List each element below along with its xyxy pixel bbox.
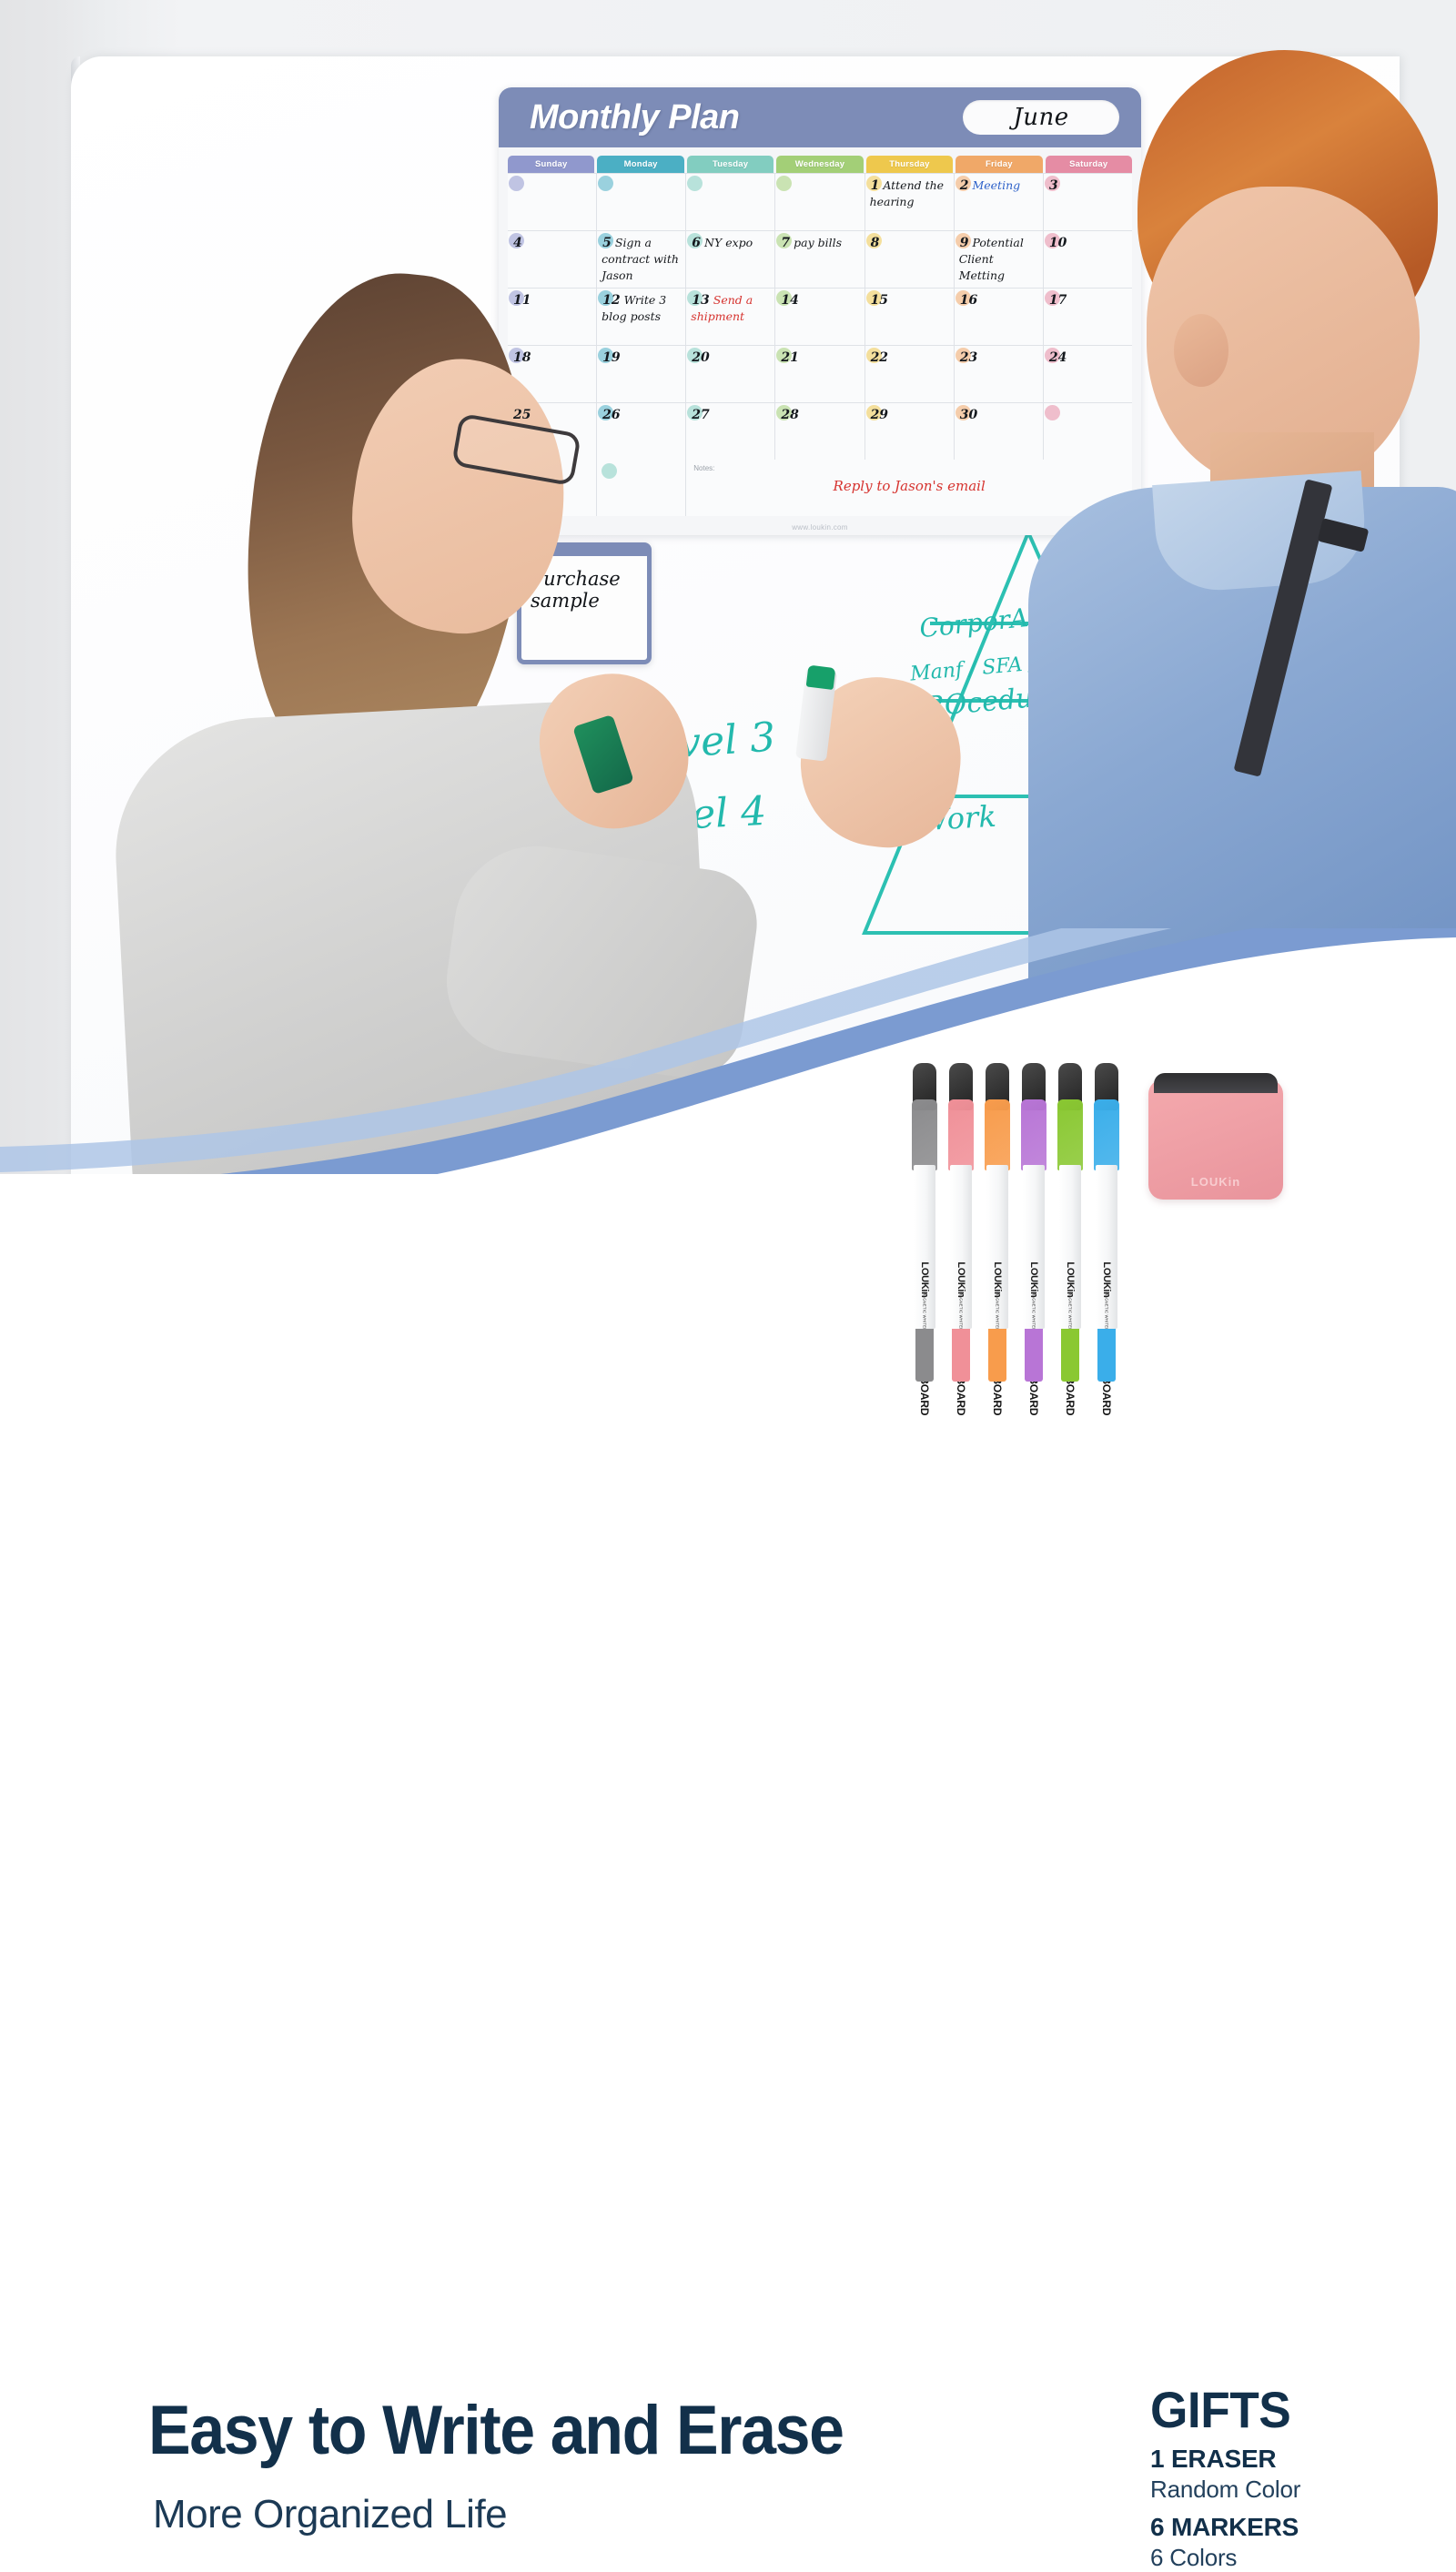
- day-number-wrap: 4: [512, 235, 522, 251]
- day-number: 13: [691, 293, 709, 308]
- day-number-wrap: 12: [602, 292, 620, 309]
- marker-body: LOUKinMAGNETIC WHITEBOARD MARKERWHITEBOA…: [950, 1165, 972, 1329]
- gift-line-2-bold: 6 MARKERS: [1150, 2513, 1300, 2542]
- day-number: 18: [512, 350, 531, 365]
- day-number-wrap: 19: [602, 349, 620, 366]
- calendar-title: Monthly Plan: [530, 98, 739, 137]
- day-number: [602, 178, 602, 193]
- marker-body: LOUKinMAGNETIC WHITEBOARD MARKERWHITEBOA…: [986, 1165, 1008, 1329]
- day-number-wrap: 29: [870, 407, 888, 423]
- day-number: 12: [602, 293, 620, 308]
- day-event-text: Meeting: [972, 178, 1020, 192]
- whiteboard-marker: LOUKinMAGNETIC WHITEBOARD MARKERWHITEBOA…: [948, 1063, 974, 1382]
- gifts-block: GIFTS 1 ERASER Random Color 6 MARKERS 6 …: [1150, 2385, 1300, 2572]
- day-color-dot: [776, 176, 792, 191]
- day-number: 27: [691, 408, 709, 422]
- marker-body: LOUKinMAGNETIC WHITEBOARD MARKERWHITEBOA…: [1059, 1165, 1081, 1329]
- calendar-day-cell[interactable]: [597, 174, 685, 230]
- marker-barrel: [952, 1329, 970, 1382]
- day-number: [1048, 408, 1049, 422]
- day-number-wrap: 30: [959, 407, 977, 423]
- calendar-day-cell[interactable]: 7pay bills: [775, 231, 864, 288]
- day-number: 20: [691, 350, 709, 365]
- pink-eraser-product: LOUKin: [1148, 1079, 1283, 1200]
- day-number: 11: [512, 293, 531, 308]
- marker-barrel: [988, 1329, 1006, 1382]
- calendar-day-cell[interactable]: 23: [955, 346, 1043, 402]
- day-number: 25: [512, 408, 531, 422]
- gifts-title: GIFTS: [1150, 2385, 1293, 2435]
- marker-body: LOUKinMAGNETIC WHITEBOARD MARKERWHITEBOA…: [1096, 1165, 1117, 1329]
- whiteboard-marker: LOUKinMAGNETIC WHITEBOARD MARKERWHITEBOA…: [1094, 1063, 1119, 1382]
- calendar-day-cell[interactable]: 22: [865, 346, 954, 402]
- calendar-day-cell[interactable]: 29: [865, 403, 954, 460]
- promo-headline: Easy to Write and Erase: [148, 2391, 844, 2470]
- day-number: 17: [1048, 293, 1067, 308]
- marker-body: LOUKinMAGNETIC WHITEBOARD MARKERWHITEBOA…: [1023, 1165, 1045, 1329]
- marker-cap: [912, 1099, 937, 1170]
- day-number: 3: [1048, 178, 1058, 193]
- calendar-day-cell[interactable]: 20: [686, 346, 774, 402]
- day-number: 1: [870, 178, 880, 193]
- calendar-day-cell[interactable]: 27: [686, 403, 774, 460]
- day-header-thursday: Thursday: [866, 156, 953, 173]
- day-number: 15: [870, 293, 888, 308]
- day-number: 30: [959, 408, 977, 422]
- day-number-wrap: 11: [512, 292, 531, 309]
- day-number-wrap: [512, 177, 513, 194]
- marker-barrel: [1097, 1329, 1116, 1382]
- calendar-day-cell[interactable]: 15: [865, 289, 954, 345]
- day-number: 4: [512, 236, 522, 250]
- day-number-wrap: 24: [1048, 349, 1067, 366]
- day-event-text: NY expo: [704, 236, 753, 249]
- day-number-wrap: 25: [512, 407, 531, 423]
- marker-body: LOUKinMAGNETIC WHITEBOARD MARKERWHITEBOA…: [914, 1165, 935, 1329]
- marker-barrel: [915, 1329, 934, 1382]
- marker-cap: [1057, 1099, 1083, 1170]
- calendar-day-cell[interactable]: [686, 174, 774, 230]
- day-number-wrap: 5: [602, 235, 612, 251]
- day-number-wrap: 6: [691, 235, 701, 251]
- calendar-day-cell[interactable]: 6NY expo: [686, 231, 774, 288]
- day-number-wrap: 22: [870, 349, 888, 366]
- man-ear: [1174, 314, 1228, 387]
- eraser-brand: LOUKin: [1148, 1175, 1283, 1189]
- calendar-day-cell[interactable]: 21: [775, 346, 864, 402]
- day-number: 2: [959, 178, 969, 193]
- day-number-wrap: 9: [959, 235, 969, 251]
- day-number-wrap: 17: [1048, 292, 1067, 309]
- day-number: 24: [1048, 350, 1067, 365]
- promo-subheadline: More Organized Life: [153, 2492, 507, 2537]
- day-number: 26: [602, 408, 620, 422]
- day-number: 19: [602, 350, 620, 365]
- calendar-day-cell[interactable]: 30: [955, 403, 1043, 460]
- calendar-day-cell[interactable]: 2Meeting: [955, 174, 1043, 230]
- calendar-day-cell[interactable]: [775, 174, 864, 230]
- day-color-dot: [509, 176, 524, 191]
- calendar-day-cell[interactable]: 9Potential Client Metting: [955, 231, 1043, 288]
- calendar-day-cell[interactable]: 13Send a shipment: [686, 289, 774, 345]
- calendar-day-cell[interactable]: 16: [955, 289, 1043, 345]
- day-number-wrap: [1048, 407, 1049, 423]
- day-number-wrap: 14: [780, 292, 798, 309]
- day-number-wrap: 16: [959, 292, 977, 309]
- marker-barrel: [1025, 1329, 1043, 1382]
- day-number-wrap: 8: [870, 235, 880, 251]
- calendar-day-cell[interactable]: 8: [865, 231, 954, 288]
- day-number: 8: [870, 236, 880, 250]
- day-number: 7: [780, 236, 790, 250]
- day-color-dot: [687, 176, 703, 191]
- day-number-wrap: 27: [691, 407, 709, 423]
- day-number-wrap: [691, 177, 692, 194]
- gift-line-2-note: 6 Colors: [1150, 2544, 1300, 2572]
- calendar-day-cell[interactable]: [508, 174, 596, 230]
- marker-cap: [985, 1099, 1010, 1170]
- day-number-wrap: 13: [691, 292, 709, 309]
- day-number-wrap: 20: [691, 349, 709, 366]
- day-header-wednesday: Wednesday: [776, 156, 863, 173]
- day-color-dot: [598, 176, 613, 191]
- day-number: 10: [1048, 236, 1067, 250]
- day-number: 9: [959, 236, 969, 250]
- day-number: 6: [691, 236, 701, 250]
- calendar-day-cell[interactable]: 28: [775, 403, 864, 460]
- day-number-wrap: [780, 177, 781, 194]
- day-header-sunday: Sunday: [508, 156, 594, 173]
- marker-cap: [1094, 1099, 1119, 1170]
- day-number-wrap: 7: [780, 235, 790, 251]
- day-number: 21: [780, 350, 798, 365]
- day-number: 29: [870, 408, 888, 422]
- day-number-wrap: 2: [959, 177, 969, 194]
- day-number: [512, 178, 513, 193]
- day-event-text: pay bills: [794, 236, 842, 249]
- marker-set: LOUKinMAGNETIC WHITEBOARD MARKERWHITEBOA…: [912, 1063, 1130, 1382]
- day-header-friday: Friday: [955, 156, 1042, 173]
- calendar-day-cell[interactable]: 14: [775, 289, 864, 345]
- day-number: 5: [602, 236, 612, 250]
- day-number: 16: [959, 293, 977, 308]
- marker-barrel: [1061, 1329, 1079, 1382]
- gift-line-1-bold: 1 ERASER: [1150, 2445, 1300, 2474]
- day-number-wrap: 3: [1048, 177, 1058, 194]
- promo-bar: Easy to Write and Erase More Organized L…: [0, 1174, 1456, 1456]
- day-number-wrap: 23: [959, 349, 977, 366]
- whiteboard-marker: LOUKinMAGNETIC WHITEBOARD MARKERWHITEBOA…: [1057, 1063, 1083, 1382]
- eraser-felt-top: [1154, 1073, 1278, 1093]
- day-number-wrap: 18: [512, 349, 531, 366]
- day-number-wrap: 1: [870, 177, 880, 194]
- day-number-wrap: 26: [602, 407, 620, 423]
- marker-cap: [1021, 1099, 1046, 1170]
- day-header-monday: Monday: [597, 156, 683, 173]
- marker-cap: [948, 1099, 974, 1170]
- whiteboard-marker: LOUKinMAGNETIC WHITEBOARD MARKERWHITEBOA…: [912, 1063, 937, 1382]
- gift-line-1-note: Random Color: [1150, 2476, 1300, 2504]
- day-number-wrap: 28: [780, 407, 798, 423]
- whiteboard-marker: LOUKinMAGNETIC WHITEBOARD MARKERWHITEBOA…: [1021, 1063, 1046, 1382]
- day-number-wrap: 21: [780, 349, 798, 366]
- day-number: 22: [870, 350, 888, 365]
- day-number: 23: [959, 350, 977, 365]
- product-photo-scene: CorporAtE P Manf / SFA / i PROcedur Work…: [0, 0, 1456, 1174]
- day-number-wrap: [602, 177, 602, 194]
- calendar-day-cell[interactable]: 1Attend the hearing: [865, 174, 954, 230]
- day-number-wrap: 10: [1048, 235, 1067, 251]
- whiteboard-marker: LOUKinMAGNETIC WHITEBOARD MARKERWHITEBOA…: [985, 1063, 1010, 1382]
- day-number: 28: [780, 408, 798, 422]
- day-number: 14: [780, 293, 798, 308]
- day-header-tuesday: Tuesday: [687, 156, 773, 173]
- day-number-wrap: 15: [870, 292, 888, 309]
